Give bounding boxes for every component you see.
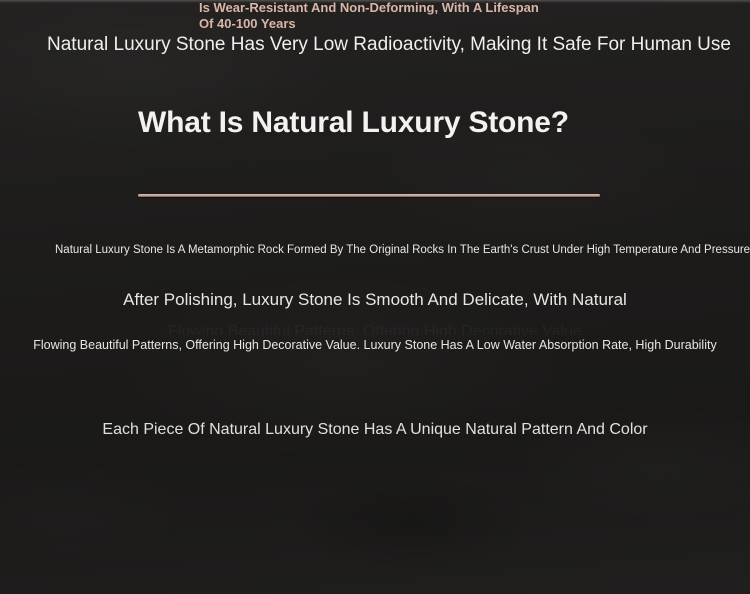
body-line-ghost-clipped: Flowing Beautiful Patterns, Offering Hig…	[0, 322, 750, 335]
page-title: What Is Natural Luxury Stone?	[138, 104, 618, 142]
body-line-patterns: Flowing Beautiful Patterns, Offering Hig…	[0, 337, 750, 353]
body-line-radioactivity: Natural Luxury Stone Has Very Low Radioa…	[0, 32, 750, 58]
slide-canvas: What Is Natural Luxury Stone? Natural Lu…	[0, 0, 750, 594]
body-line-wear-resistant: Is Wear-Resistant And Non-Deforming, Wit…	[0, 0, 750, 32]
body-line-polishing: After Polishing, Luxury Stone Is Smooth …	[0, 289, 750, 311]
body-paragraph-definition: Natural Luxury Stone Is A Metamorphic Ro…	[55, 243, 695, 258]
slide-content: What Is Natural Luxury Stone? Natural Lu…	[0, 0, 750, 594]
body-line-unique-pattern: Each Piece Of Natural Luxury Stone Has A…	[0, 419, 750, 440]
body-line-wear-resistant-text: Is Wear-Resistant And Non-Deforming, Wit…	[199, 0, 551, 32]
title-divider	[138, 194, 600, 197]
